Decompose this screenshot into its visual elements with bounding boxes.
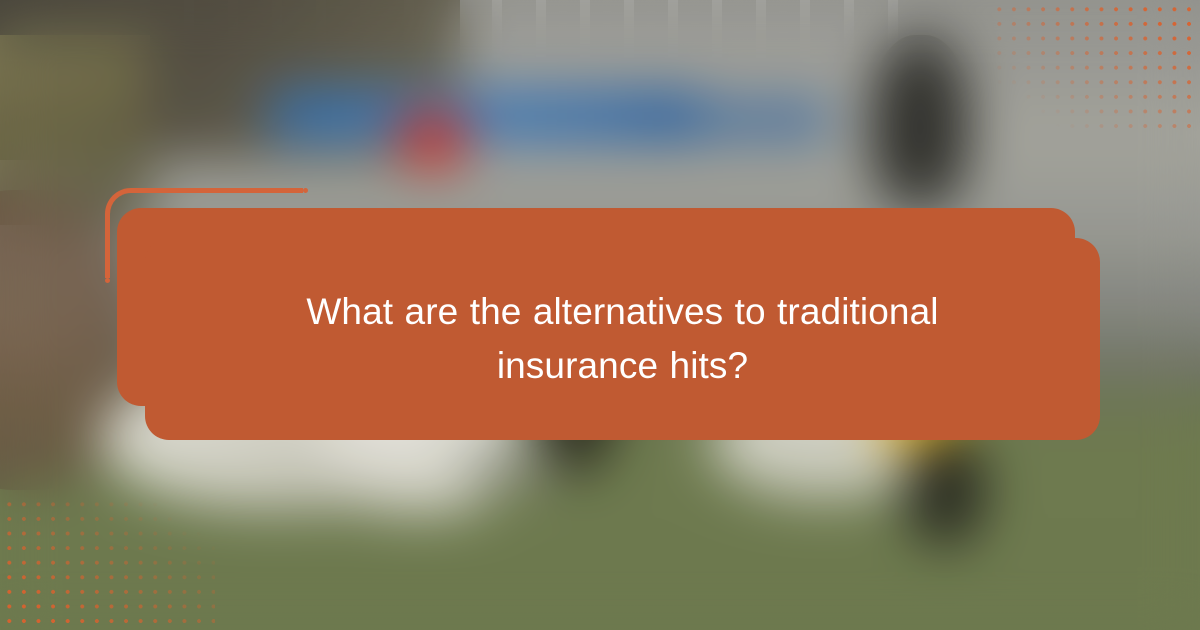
card-content: What are the alternatives to traditional… (145, 238, 1100, 440)
share-card-canvas: What are the alternatives to traditional… (0, 0, 1200, 630)
page-title: What are the alternatives to traditional… (243, 285, 1003, 394)
